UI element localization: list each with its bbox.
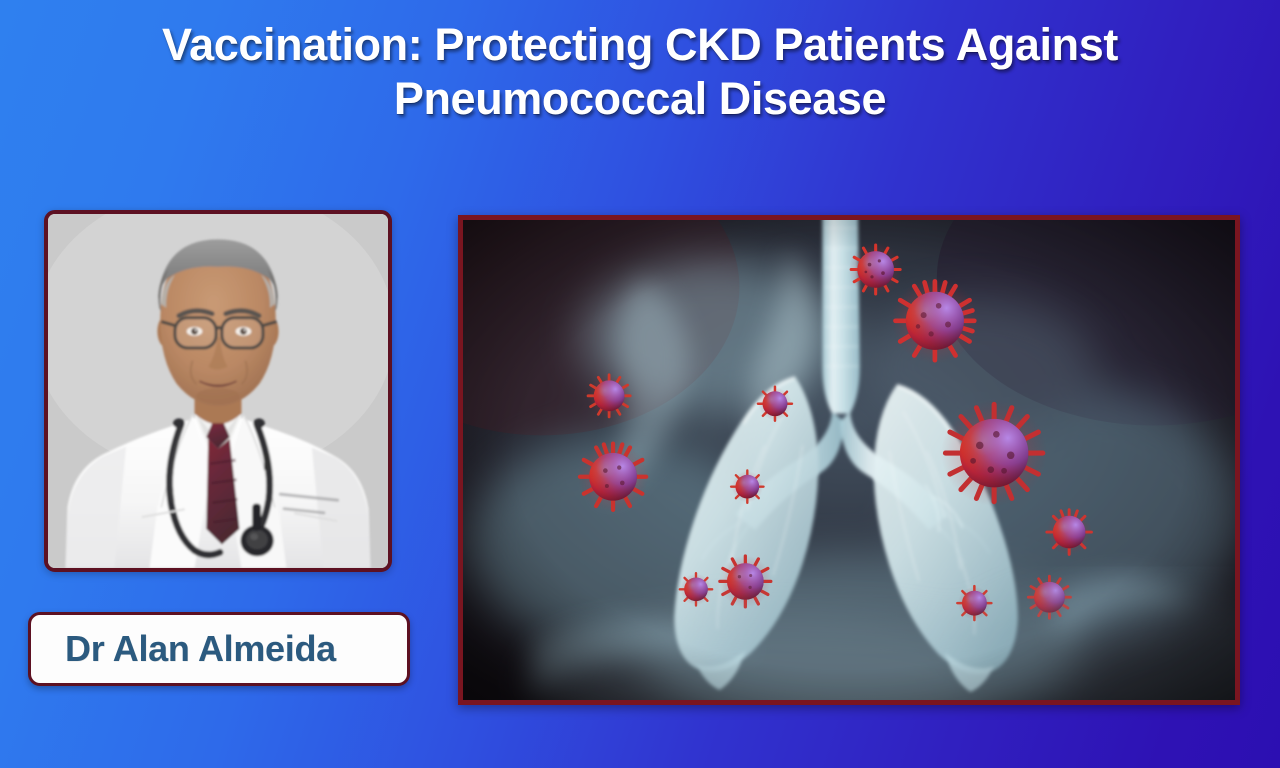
speaker-name: Dr Alan Almeida [65, 628, 336, 670]
title-line-2: Pneumococcal Disease [28, 72, 1252, 126]
page-title: Vaccination: Protecting CKD Patients Aga… [0, 18, 1280, 126]
lungs-pneumococcus-image [463, 220, 1235, 700]
speaker-photo-card [44, 210, 392, 572]
title-line-1: Vaccination: Protecting CKD Patients Aga… [28, 18, 1252, 72]
lung-illustration-card [458, 215, 1240, 705]
doctor-portrait-image [48, 214, 388, 568]
speaker-name-badge: Dr Alan Almeida [28, 612, 410, 686]
